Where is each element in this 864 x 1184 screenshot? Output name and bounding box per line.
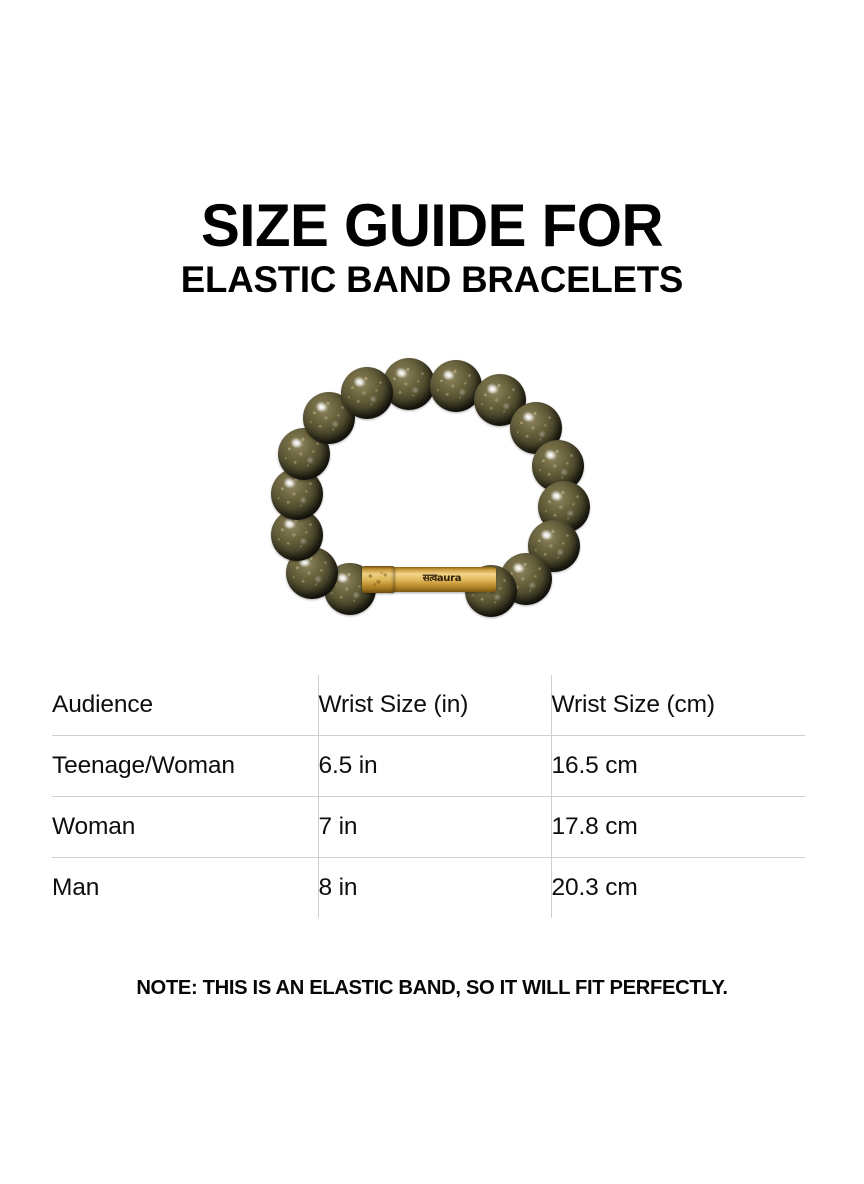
bracelet-illustration: सत्वaura (262, 350, 602, 642)
bracelet-clasp-bar: सत्वaura (362, 566, 496, 593)
clasp-brand-text: सत्वaura (412, 572, 472, 585)
column-header-wrist-cm: Wrist Size (cm) (551, 675, 805, 736)
footer-note: NOTE: THIS IS AN ELASTIC BAND, SO IT WIL… (6, 976, 857, 1000)
page-header: SIZE GUIDE FOR ELASTIC BAND BRACELETS (0, 196, 864, 300)
table-row: Man 8 in 20.3 cm (52, 858, 805, 919)
bracelet-bead (341, 367, 393, 419)
cell-wrist-in: 6.5 in (318, 736, 551, 797)
cell-wrist-cm: 17.8 cm (551, 797, 805, 858)
clasp-textured-cap (362, 566, 395, 593)
column-header-wrist-in: Wrist Size (in) (318, 675, 551, 736)
size-guide-table: Audience Wrist Size (in) Wrist Size (cm)… (52, 675, 805, 918)
table-header-row: Audience Wrist Size (in) Wrist Size (cm) (52, 675, 805, 736)
cell-wrist-cm: 20.3 cm (551, 858, 805, 919)
page-title: SIZE GUIDE FOR (13, 196, 851, 256)
page-subtitle: ELASTIC BAND BRACELETS (4, 260, 859, 300)
table-header: Audience Wrist Size (in) Wrist Size (cm) (52, 675, 805, 736)
cell-audience: Woman (52, 797, 318, 858)
table-row: Woman 7 in 17.8 cm (52, 797, 805, 858)
cell-audience: Teenage/Woman (52, 736, 318, 797)
cell-wrist-cm: 16.5 cm (551, 736, 805, 797)
cell-audience: Man (52, 858, 318, 919)
cell-wrist-in: 8 in (318, 858, 551, 919)
cell-wrist-in: 7 in (318, 797, 551, 858)
table-row: Teenage/Woman 6.5 in 16.5 cm (52, 736, 805, 797)
table-body: Teenage/Woman 6.5 in 16.5 cm Woman 7 in … (52, 736, 805, 919)
column-header-audience: Audience (52, 675, 318, 736)
product-image: सत्वaura (262, 350, 602, 642)
